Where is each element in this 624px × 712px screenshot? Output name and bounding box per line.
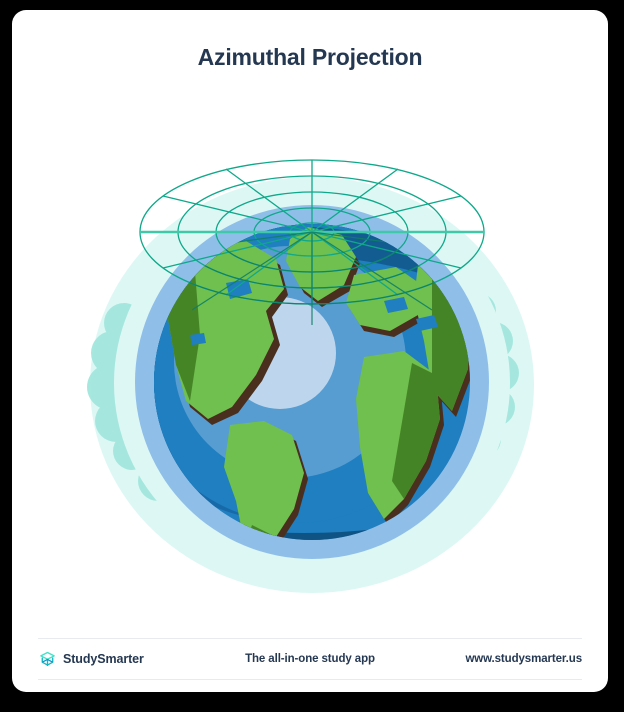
- screenshot-root: Azimuthal Projection #45e0c8: [0, 0, 624, 712]
- brand-block[interactable]: StudySmarter: [38, 650, 224, 669]
- footer-website-link[interactable]: www.studysmarter.us: [396, 653, 582, 665]
- studysmarter-cap-icon: [38, 650, 57, 669]
- page-title: Azimuthal Projection: [12, 44, 608, 71]
- content-card: Azimuthal Projection #45e0c8: [12, 10, 608, 692]
- footer-row: StudySmarter The all-in-one study app ww…: [38, 639, 582, 679]
- azimuthal-projection-illustration: #45e0c8: [12, 95, 608, 615]
- brand-name-label: StudySmarter: [63, 652, 144, 666]
- globe-illustration-svg: #45e0c8: [12, 95, 608, 615]
- footer-rule-bottom: [38, 679, 582, 680]
- footer-tagline: The all-in-one study app: [224, 653, 396, 665]
- page-footer: StudySmarter The all-in-one study app ww…: [38, 628, 582, 680]
